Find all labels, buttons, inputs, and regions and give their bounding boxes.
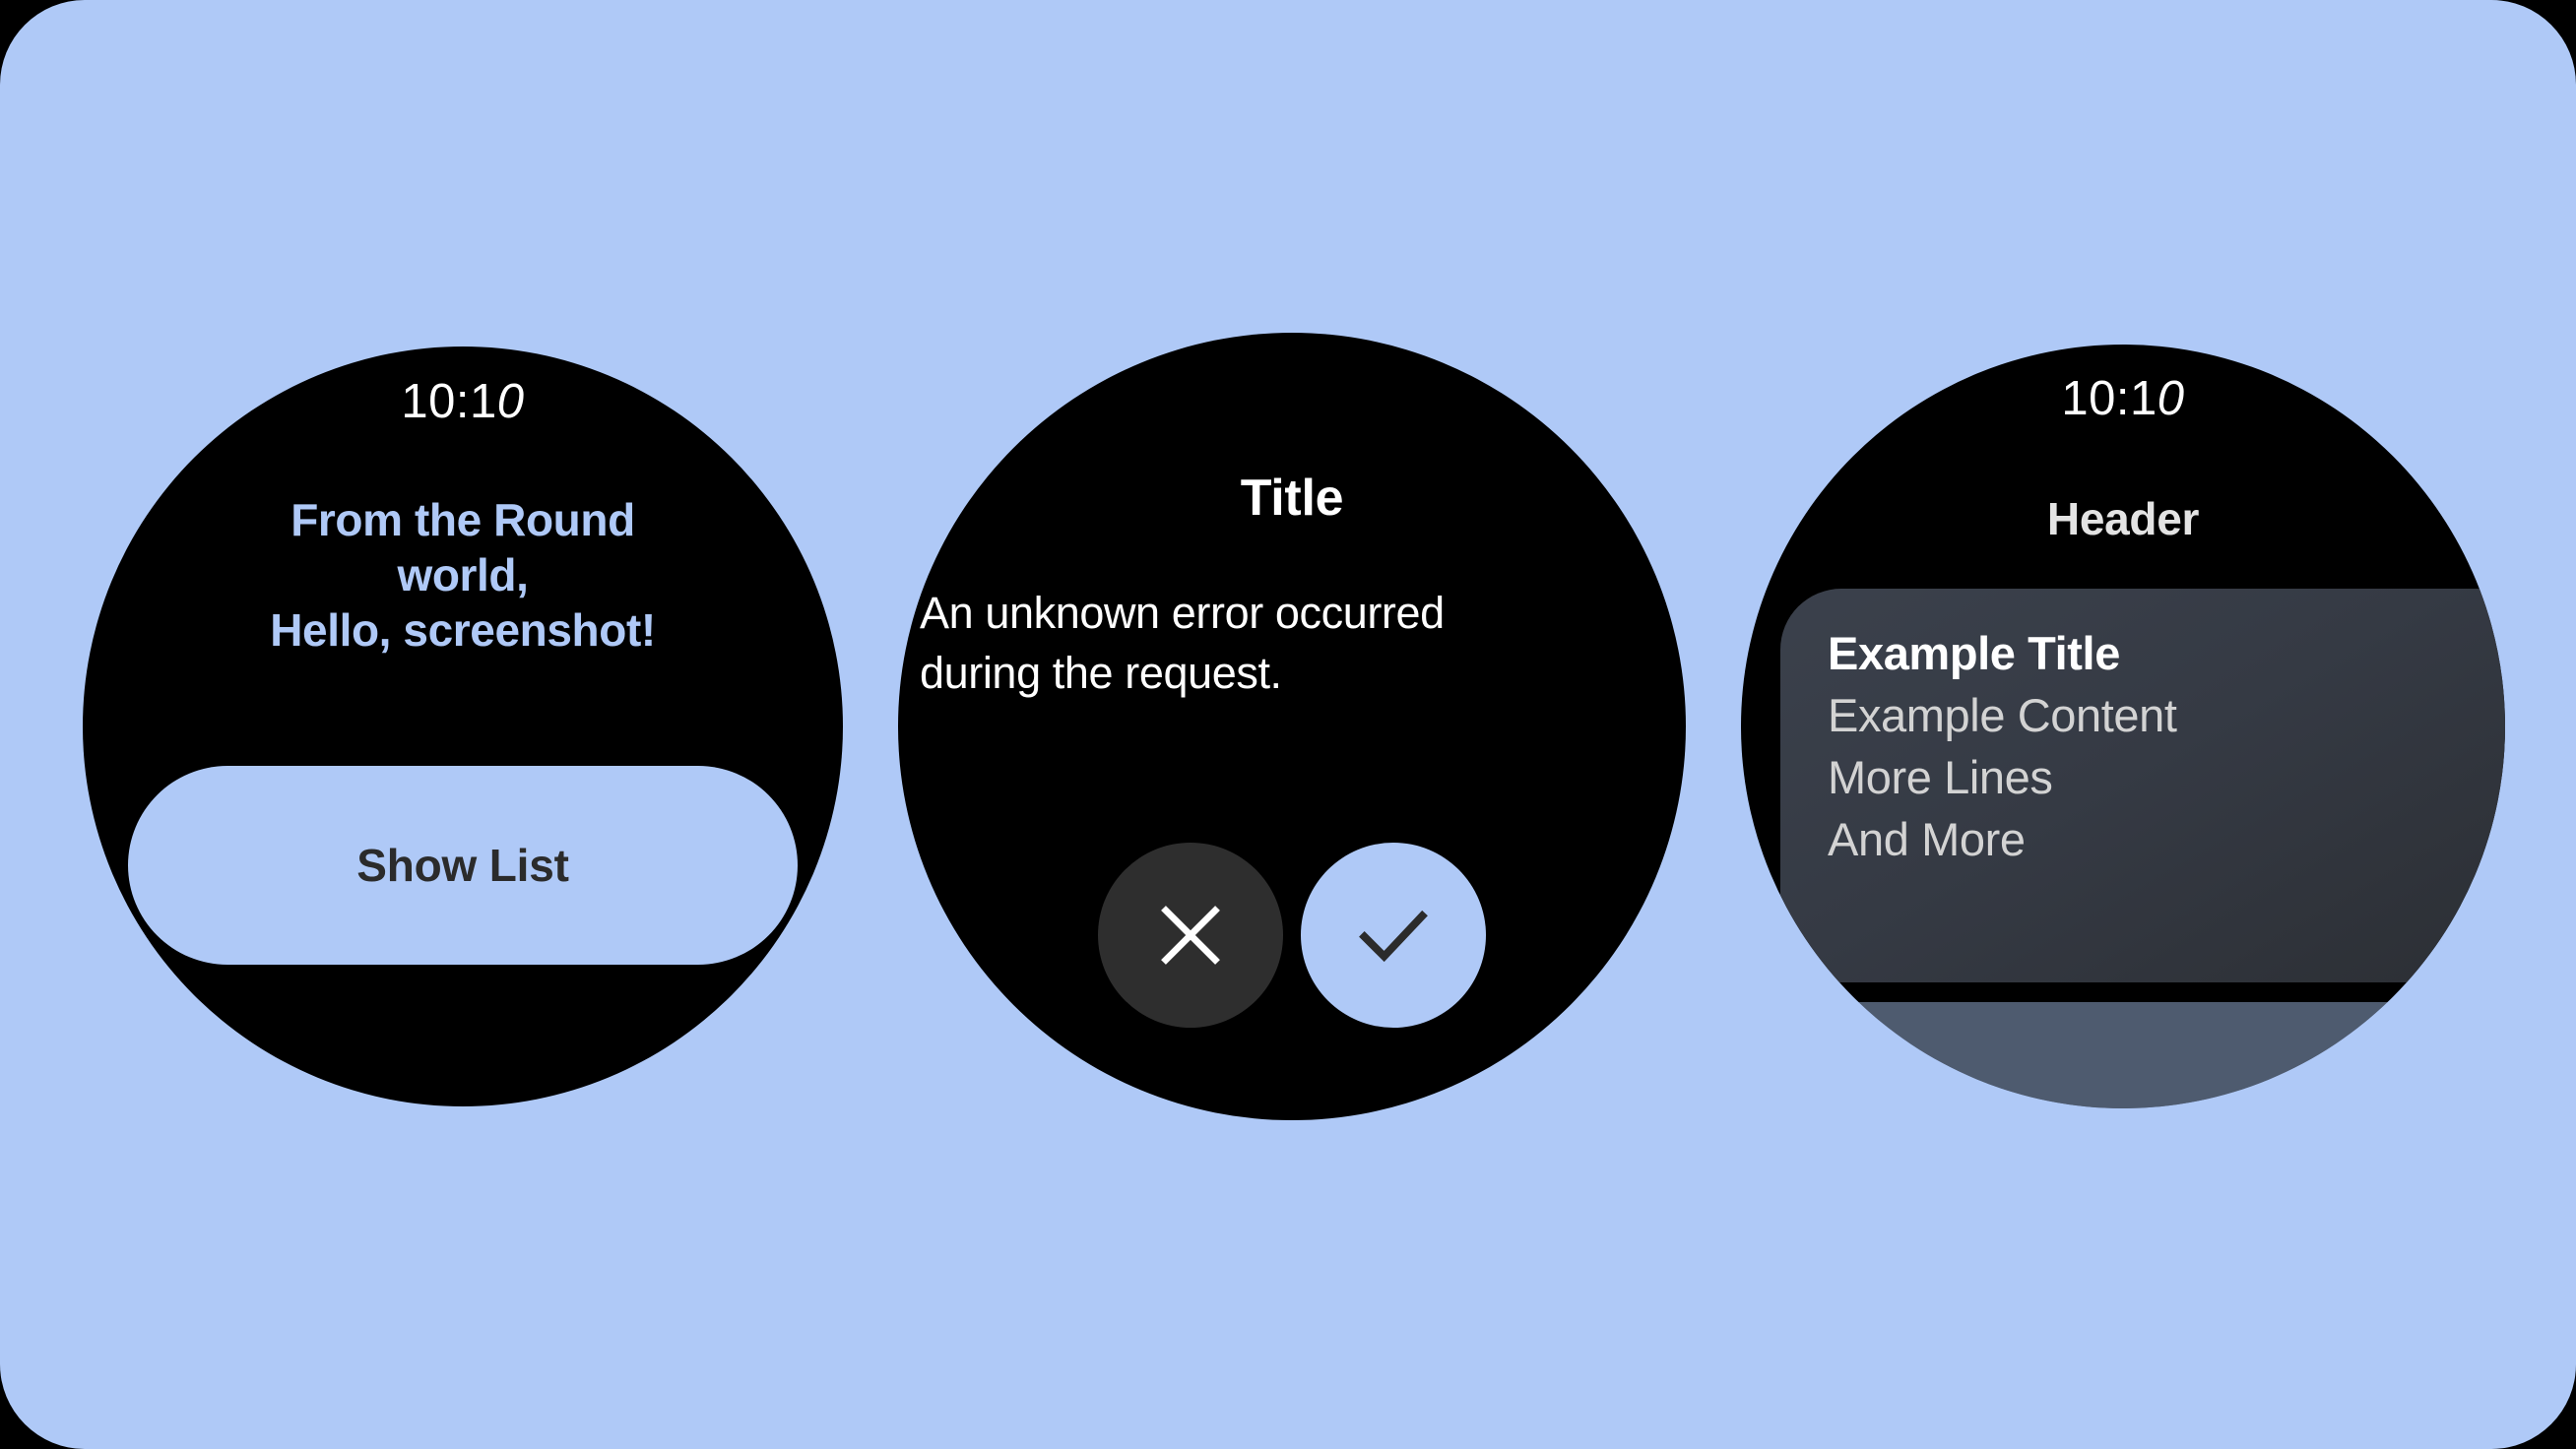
watch-face-dialog: Title An unknown error occurred during t… <box>898 333 1686 1120</box>
confirm-button[interactable] <box>1301 843 1486 1028</box>
show-list-button[interactable]: Show List <box>128 766 798 965</box>
status-time: 10:10 <box>1741 371 2505 426</box>
scroll-indicator[interactable] <box>1780 1002 2505 1108</box>
close-x-icon <box>1148 893 1233 977</box>
dialog-message: An unknown error occurred during the req… <box>920 584 1664 704</box>
status-time-italic-digit: 0 <box>2157 372 2185 425</box>
greeting-text: From the Round world, Hello, screenshot! <box>132 492 794 658</box>
list-item-line: More Lines <box>1828 754 2505 802</box>
status-time-text: 10:1 <box>401 375 496 428</box>
greeting-line-3: Hello, screenshot! <box>132 602 794 658</box>
status-time: 10:10 <box>83 374 843 429</box>
list-item-title: Example Title <box>1828 630 2505 678</box>
page-canvas: 10:10 From the Round world, Hello, scree… <box>0 0 2576 1449</box>
status-time-italic-digit: 0 <box>497 375 525 428</box>
greeting-line-1: From the Round <box>132 492 794 547</box>
watch-face-hello: 10:10 From the Round world, Hello, scree… <box>83 346 843 1106</box>
check-icon <box>1347 889 1440 981</box>
list-card[interactable]: Example Title Example Content More Lines… <box>1780 589 2505 982</box>
greeting-line-2: world, <box>132 547 794 602</box>
status-time-text: 10:1 <box>2061 372 2157 425</box>
card-header-label: Header <box>1741 492 2505 545</box>
list-item-line: And More <box>1828 816 2505 864</box>
dialog-message-line-1: An unknown error occurred <box>920 584 1664 644</box>
dialog-message-line-2: during the request. <box>920 644 1664 704</box>
dialog-title: Title <box>898 469 1686 528</box>
dismiss-button[interactable] <box>1098 843 1283 1028</box>
watch-face-card: 10:10 Header Example Title Example Conte… <box>1741 345 2505 1108</box>
list-item-line: Example Content <box>1828 692 2505 740</box>
dialog-actions <box>898 843 1686 1028</box>
